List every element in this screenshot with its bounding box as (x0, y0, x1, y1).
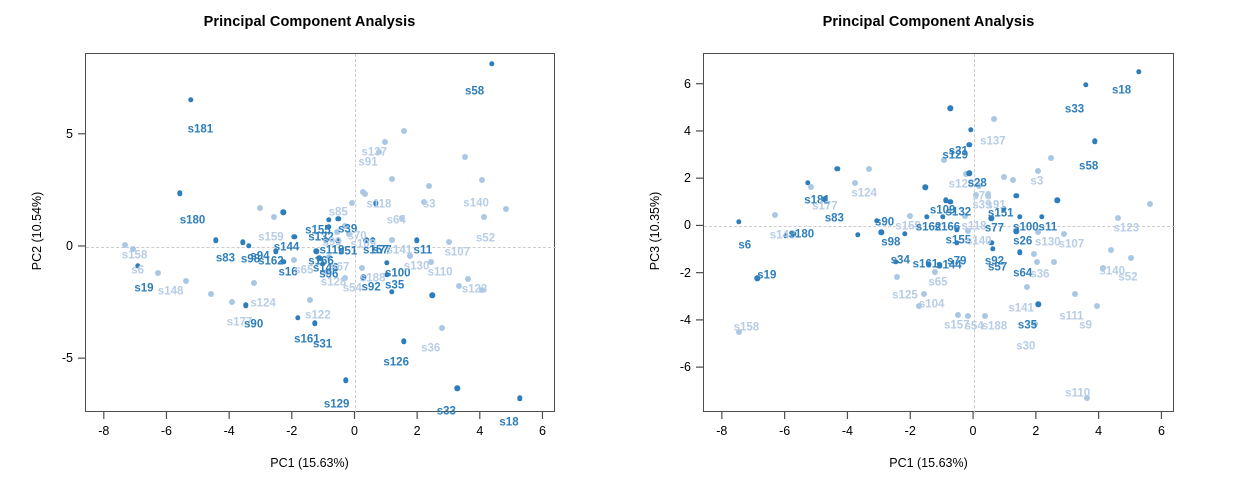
data-point[interactable] (479, 177, 485, 183)
data-point[interactable] (955, 312, 961, 318)
data-point[interactable] (401, 338, 406, 343)
data-point[interactable] (1010, 177, 1016, 183)
point-label: s6 (738, 240, 751, 252)
point-label: s65 (928, 278, 947, 290)
data-point[interactable] (292, 234, 297, 239)
point-label: s144 (274, 242, 300, 254)
data-point[interactable] (1083, 82, 1088, 87)
x-tick-label: -4 (842, 424, 853, 438)
data-point[interactable] (907, 213, 913, 219)
data-point[interactable] (229, 299, 235, 305)
x-tick-label: -2 (286, 424, 297, 438)
data-point[interactable] (855, 232, 860, 237)
pca-figure: Principal Component Analysis s58s181s137… (0, 0, 1238, 500)
y-axis-label-right: PC3 (10.35%) (648, 171, 662, 291)
point-label: s158 (734, 323, 760, 335)
point-label: s158 (122, 250, 148, 262)
data-point[interactable] (183, 278, 189, 284)
point-label: s36 (1030, 269, 1049, 281)
point-label: s104 (919, 299, 945, 311)
y-tick-label: 4 (684, 124, 691, 138)
data-point[interactable] (1014, 193, 1019, 198)
data-point[interactable] (414, 238, 419, 243)
data-point[interactable] (257, 205, 263, 211)
data-point[interactable] (208, 291, 214, 297)
data-point[interactable] (948, 106, 953, 111)
point-label: s35 (1018, 320, 1037, 332)
point-label: s110 (428, 267, 453, 279)
data-point[interactable] (439, 325, 445, 331)
data-point[interactable] (772, 212, 778, 218)
point-label: s180 (180, 215, 206, 227)
x-tick-label: 6 (539, 424, 546, 438)
point-label: s92 (362, 283, 381, 295)
point-label: s126 (383, 358, 409, 370)
data-point[interactable] (1017, 250, 1022, 255)
point-label: s31 (313, 340, 332, 352)
point-label: s52 (476, 233, 495, 245)
point-label: s123 (1114, 223, 1140, 235)
point-label: s57 (988, 262, 1007, 274)
data-point[interactable] (243, 303, 248, 308)
data-point[interactable] (295, 315, 300, 320)
point-label: s129 (942, 150, 968, 162)
data-point[interactable] (1072, 291, 1078, 297)
panel-title-left: Principal Component Analysis (0, 14, 619, 30)
point-label: s130 (404, 261, 430, 273)
point-label: s100 (1013, 222, 1039, 234)
point-label: s110 (1065, 389, 1090, 401)
point-label: s118 (366, 199, 391, 211)
data-point[interactable] (446, 239, 452, 245)
point-label: s35 (385, 280, 404, 292)
point-label: s83 (825, 213, 844, 225)
point-label: s34 (891, 255, 910, 267)
point-label: s3 (1030, 176, 1043, 188)
data-point[interactable] (1031, 251, 1037, 257)
data-point[interactable] (852, 180, 858, 186)
x-tick-label: 0 (351, 424, 358, 438)
data-point[interactable] (923, 185, 928, 190)
data-point[interactable] (307, 297, 313, 303)
data-point[interactable] (517, 396, 522, 401)
point-label: s140 (463, 198, 489, 210)
x-tick-label: 6 (1158, 424, 1165, 438)
y-tick-label: -6 (680, 360, 691, 374)
data-point[interactable] (1094, 303, 1100, 309)
data-point[interactable] (1115, 215, 1121, 221)
point-label: s51 (338, 246, 357, 258)
data-point[interactable] (1092, 139, 1097, 144)
plot-area-right[interactable]: s18s33s137s31s129s58s3s128s28s181s177s12… (703, 53, 1174, 412)
data-point[interactable] (921, 291, 927, 297)
y-tick-label: 2 (684, 171, 691, 185)
data-point[interactable] (382, 139, 388, 145)
x-tick-label: 2 (1032, 424, 1039, 438)
data-point[interactable] (982, 313, 988, 319)
data-point[interactable] (1136, 69, 1141, 74)
point-label: s85 (329, 207, 348, 219)
data-point[interactable] (1051, 259, 1057, 265)
point-label: s91 (358, 157, 377, 169)
data-point[interactable] (967, 171, 972, 176)
data-point[interactable] (991, 116, 997, 122)
y-tick-label: 0 (66, 239, 73, 253)
data-point[interactable] (426, 183, 432, 189)
point-label: s64 (387, 215, 406, 227)
x-axis-label-left: PC1 (15.63%) (0, 456, 619, 470)
y-tick-label: 5 (66, 127, 73, 141)
data-point[interactable] (481, 214, 487, 220)
data-point[interactable] (281, 209, 286, 214)
data-point[interactable] (503, 206, 509, 212)
point-label: s124 (250, 298, 276, 310)
data-point[interactable] (155, 270, 161, 276)
point-label: s181 (188, 124, 214, 136)
data-point[interactable] (1039, 214, 1044, 219)
point-label: s26 (1013, 236, 1032, 248)
point-label: s151 (988, 208, 1014, 220)
y-tick-label: -2 (680, 266, 691, 280)
data-point[interactable] (866, 166, 872, 172)
point-label: s141 (387, 245, 413, 257)
point-label: s180 (789, 229, 815, 241)
panel-title-right: Principal Component Analysis (619, 14, 1238, 30)
x-tick-label: 4 (1095, 424, 1102, 438)
x-tick-label: 4 (476, 424, 483, 438)
point-label: s166 (935, 222, 961, 234)
data-point[interactable] (343, 378, 348, 383)
data-point[interactable] (1108, 247, 1114, 253)
data-point[interactable] (1061, 231, 1067, 237)
point-label: s118 (962, 221, 987, 233)
point-label: s90 (244, 320, 263, 332)
data-point[interactable] (240, 240, 245, 245)
data-point[interactable] (177, 190, 182, 195)
x-tick-label: -8 (716, 424, 727, 438)
x-tick-label: -6 (161, 424, 172, 438)
y-tick-label: -4 (680, 313, 691, 327)
data-point[interactable] (924, 214, 929, 219)
data-point[interactable] (314, 249, 319, 254)
point-label: s28 (968, 179, 987, 191)
point-label: s58 (465, 86, 484, 98)
data-point[interactable] (389, 176, 395, 182)
pca-panel-pc1-pc2: Principal Component Analysis s58s181s137… (0, 0, 619, 500)
y-axis-label-left: PC2 (10.54%) (30, 171, 44, 291)
data-point[interactable] (894, 274, 900, 280)
data-point[interactable] (948, 199, 953, 204)
data-point[interactable] (1128, 255, 1134, 261)
point-label: s83 (216, 253, 235, 265)
y-tick-label: 0 (684, 218, 691, 232)
data-point[interactable] (1001, 174, 1007, 180)
point-label: s123 (462, 285, 488, 297)
point-label: s107 (1059, 239, 1085, 251)
data-point[interactable] (808, 184, 814, 190)
point-label: s98 (881, 238, 900, 250)
data-point[interactable] (1048, 155, 1054, 161)
point-label: s6 (131, 266, 144, 278)
point-label: s122 (305, 311, 331, 323)
x-tick-label: 0 (970, 424, 977, 438)
point-label: s144 (936, 260, 962, 272)
point-label: s11 (1039, 222, 1058, 234)
x-tick-label: -2 (905, 424, 916, 438)
point-label: s141 (1008, 304, 1034, 316)
data-point[interactable] (430, 293, 435, 298)
point-label: s65 (294, 266, 313, 278)
data-point[interactable] (465, 276, 471, 282)
plot-area-left[interactable]: s58s181s137s91s140s118s180s3s85s159s52s6… (85, 53, 555, 412)
data-point[interactable] (968, 127, 973, 132)
point-label: s124 (851, 188, 877, 200)
data-point[interactable] (736, 219, 741, 224)
data-point[interactable] (251, 280, 257, 286)
data-point[interactable] (1034, 259, 1040, 265)
point-label: s125 (892, 291, 918, 303)
pca-panel-pc1-pc3: Principal Component Analysis s18s33s137s… (619, 0, 1238, 500)
point-label: s36 (421, 343, 440, 355)
point-label: s33 (1065, 104, 1084, 116)
data-point[interactable] (455, 386, 460, 391)
data-point[interactable] (360, 189, 366, 195)
point-label: s107 (445, 248, 471, 260)
point-label: s140 (966, 236, 992, 248)
data-point[interactable] (1035, 168, 1041, 174)
point-label: s177 (812, 201, 838, 213)
data-point[interactable] (384, 260, 389, 265)
x-tick-label: -4 (224, 424, 235, 438)
x-axis-label-right: PC1 (15.63%) (619, 456, 1238, 470)
y-tick-label: 6 (684, 77, 691, 91)
point-label: s77 (985, 223, 1004, 235)
reference-line-x (974, 54, 975, 413)
point-label: s129 (324, 399, 350, 411)
data-point[interactable] (1055, 198, 1060, 203)
data-point[interactable] (835, 166, 840, 171)
point-label: s30 (1016, 341, 1035, 353)
y-tick-label: -5 (62, 351, 73, 365)
data-point[interactable] (122, 242, 128, 248)
data-point[interactable] (489, 61, 494, 66)
x-tick-label: 2 (414, 424, 421, 438)
point-label: s188 (982, 321, 1008, 333)
point-label: s96 (319, 269, 338, 281)
data-point[interactable] (213, 238, 218, 243)
data-point[interactable] (188, 97, 193, 102)
point-label: s137 (980, 136, 1006, 148)
data-point[interactable] (349, 200, 355, 206)
data-point[interactable] (1017, 214, 1022, 219)
data-point[interactable] (1147, 201, 1153, 207)
x-tick-label: -8 (98, 424, 109, 438)
point-label: s11 (414, 245, 433, 257)
data-point[interactable] (271, 214, 277, 220)
point-label: s9 (1079, 320, 1092, 332)
point-label: s140 (1099, 266, 1125, 278)
data-point[interactable] (401, 128, 407, 134)
data-point[interactable] (879, 230, 884, 235)
point-label: s19 (757, 271, 776, 283)
point-label: s18 (499, 417, 518, 429)
x-tick-label: -6 (779, 424, 790, 438)
point-label: s130 (1035, 238, 1061, 250)
point-label: s33 (437, 406, 456, 418)
point-label: s3 (423, 199, 436, 211)
data-point[interactable] (462, 154, 468, 160)
point-label: s148 (158, 286, 184, 298)
point-label: s18 (1112, 85, 1131, 97)
data-point[interactable] (1024, 284, 1030, 290)
point-label: s19 (134, 284, 153, 296)
data-point[interactable] (291, 257, 297, 263)
point-label: s161 (913, 259, 939, 271)
data-point[interactable] (359, 265, 365, 271)
data-point[interactable] (389, 237, 395, 243)
point-label: s132 (946, 207, 972, 219)
point-label: s58 (1079, 161, 1098, 173)
data-point[interactable] (1036, 302, 1041, 307)
point-label: s90 (875, 217, 894, 229)
